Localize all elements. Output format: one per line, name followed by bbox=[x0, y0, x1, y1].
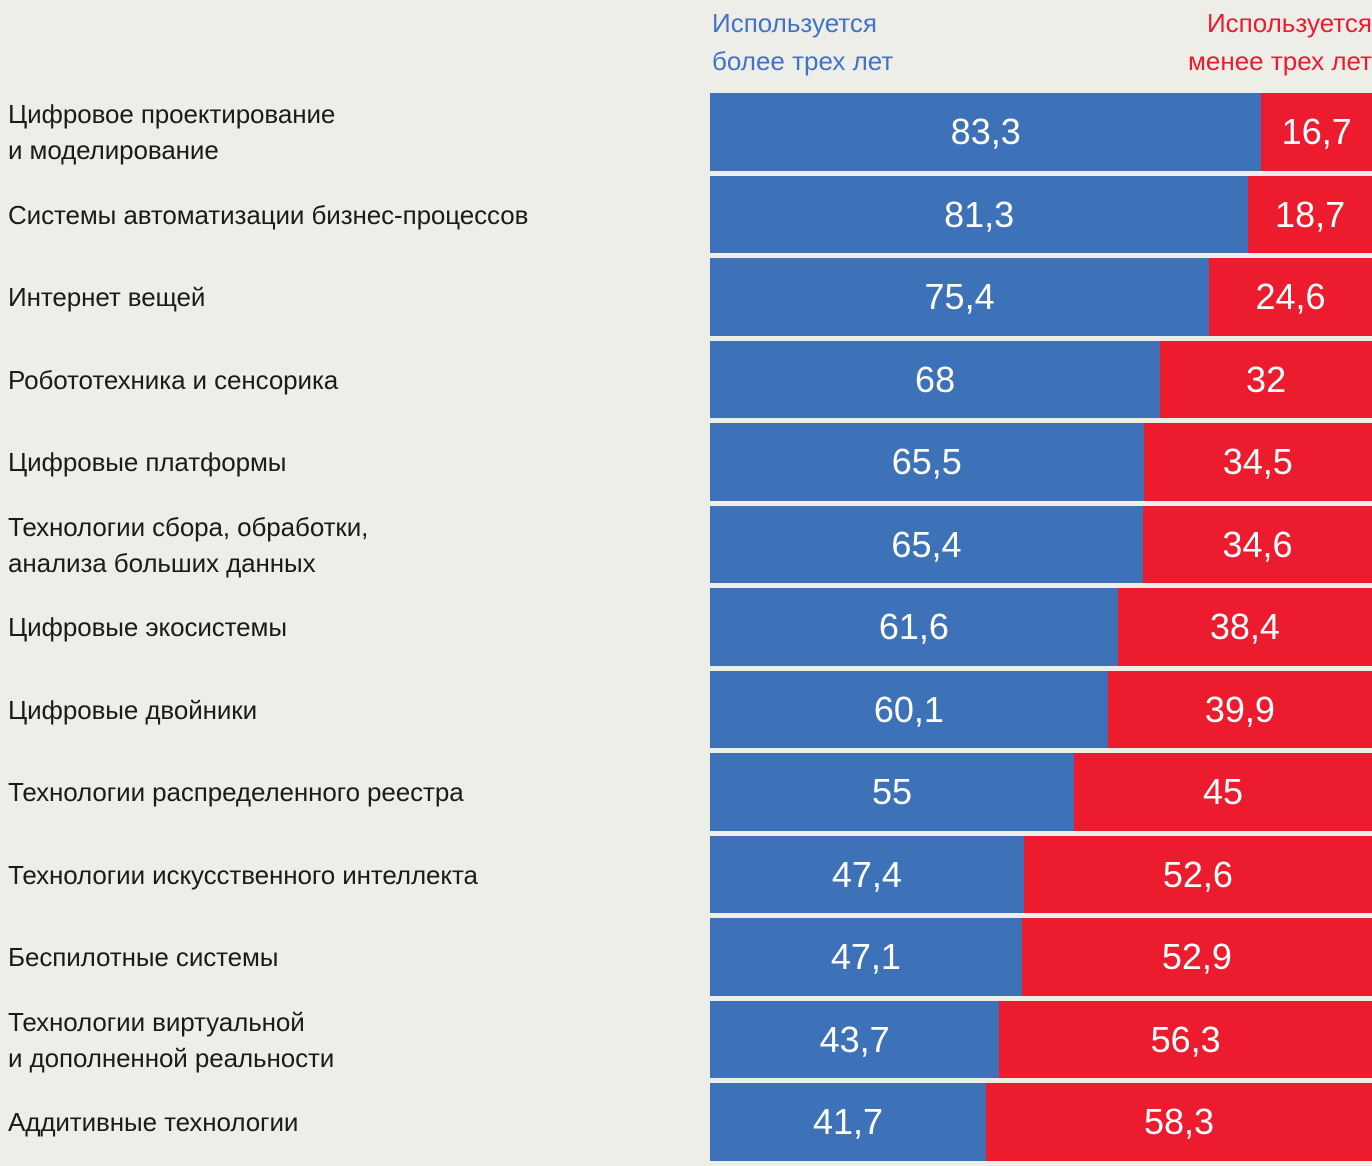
chart-row: Технологии сбора, обработки, анализа бол… bbox=[0, 506, 1372, 583]
bar-segment-more-than-three-years: 41,7 bbox=[710, 1083, 986, 1161]
row-category-label: Цифровое проектирование и моделирование bbox=[8, 93, 702, 171]
bar-segment-more-than-three-years: 65,5 bbox=[710, 423, 1144, 501]
bar-segment-more-than-three-years: 47,1 bbox=[710, 918, 1022, 996]
row-bar-track: 5545 bbox=[710, 753, 1372, 831]
row-category-label: Цифровые платформы bbox=[8, 423, 702, 501]
row-category-label: Аддитивные технологии bbox=[8, 1083, 702, 1161]
bar-segment-less-than-three-years: 52,6 bbox=[1024, 836, 1372, 913]
legend-item-more-than-three-years: Используется более трех лет bbox=[712, 4, 893, 80]
row-category-label: Беспилотные системы bbox=[8, 918, 702, 996]
bar-segment-more-than-three-years: 75,4 bbox=[710, 258, 1209, 336]
row-category-label: Системы автоматизации бизнес-процессов bbox=[8, 176, 702, 253]
bar-segment-less-than-three-years: 32 bbox=[1160, 341, 1372, 418]
row-bar-track: 75,424,6 bbox=[710, 258, 1372, 336]
row-category-label: Технологии сбора, обработки, анализа бол… bbox=[8, 506, 702, 583]
row-category-label: Интернет вещей bbox=[8, 258, 702, 336]
bar-segment-more-than-three-years: 55 bbox=[710, 753, 1074, 831]
bar-segment-less-than-three-years: 34,6 bbox=[1143, 506, 1372, 583]
row-category-label: Технологии искусственного интеллекта bbox=[8, 836, 702, 913]
row-category-label: Цифровые экосистемы bbox=[8, 588, 702, 666]
row-bar-track: 43,756,3 bbox=[710, 1001, 1372, 1078]
stacked-bar-chart: Используется более трех лет Используется… bbox=[0, 0, 1372, 1166]
chart-row: Системы автоматизации бизнес-процессов81… bbox=[0, 176, 1372, 253]
row-bar-track: 83,316,7 bbox=[710, 93, 1372, 171]
chart-row: Технологии распределенного реестра5545 bbox=[0, 753, 1372, 831]
row-bar-track: 65,434,6 bbox=[710, 506, 1372, 583]
row-bar-track: 60,139,9 bbox=[710, 671, 1372, 748]
bar-segment-more-than-three-years: 43,7 bbox=[710, 1001, 999, 1078]
row-category-label: Технологии виртуальной и дополненной реа… bbox=[8, 1001, 702, 1078]
row-bar-track: 65,534,5 bbox=[710, 423, 1372, 501]
bar-segment-less-than-three-years: 39,9 bbox=[1108, 671, 1372, 748]
bar-segment-more-than-three-years: 65,4 bbox=[710, 506, 1143, 583]
bar-segment-less-than-three-years: 18,7 bbox=[1248, 176, 1372, 253]
chart-row: Интернет вещей75,424,6 bbox=[0, 258, 1372, 336]
chart-row: Технологии искусственного интеллекта47,4… bbox=[0, 836, 1372, 913]
bar-segment-less-than-three-years: 38,4 bbox=[1118, 588, 1372, 666]
chart-row: Цифровые платформы65,534,5 bbox=[0, 423, 1372, 501]
bar-segment-more-than-three-years: 61,6 bbox=[710, 588, 1118, 666]
bar-segment-more-than-three-years: 68 bbox=[710, 341, 1160, 418]
row-category-label: Технологии распределенного реестра bbox=[8, 753, 702, 831]
bar-segment-less-than-three-years: 58,3 bbox=[986, 1083, 1372, 1161]
chart-row: Аддитивные технологии41,758,3 bbox=[0, 1083, 1372, 1161]
bar-segment-less-than-three-years: 34,5 bbox=[1144, 423, 1372, 501]
row-bar-track: 47,452,6 bbox=[710, 836, 1372, 913]
bar-segment-more-than-three-years: 60,1 bbox=[710, 671, 1108, 748]
legend-item-less-than-three-years: Используется менее трех лет bbox=[1188, 4, 1372, 80]
bar-segment-less-than-three-years: 52,9 bbox=[1022, 918, 1372, 996]
bar-segment-more-than-three-years: 83,3 bbox=[710, 93, 1261, 171]
chart-row: Робототехника и сенсорика6832 bbox=[0, 341, 1372, 418]
bar-segment-less-than-three-years: 24,6 bbox=[1209, 258, 1372, 336]
row-bar-track: 6832 bbox=[710, 341, 1372, 418]
row-category-label: Робототехника и сенсорика bbox=[8, 341, 702, 418]
chart-row: Беспилотные системы47,152,9 bbox=[0, 918, 1372, 996]
chart-rows: Цифровое проектирование и моделирование8… bbox=[0, 93, 1372, 1166]
chart-row: Технологии виртуальной и дополненной реа… bbox=[0, 1001, 1372, 1078]
chart-row: Цифровые экосистемы61,638,4 bbox=[0, 588, 1372, 666]
row-bar-track: 41,758,3 bbox=[710, 1083, 1372, 1161]
row-bar-track: 61,638,4 bbox=[710, 588, 1372, 666]
bar-segment-less-than-three-years: 56,3 bbox=[999, 1001, 1372, 1078]
bar-segment-less-than-three-years: 16,7 bbox=[1261, 93, 1372, 171]
row-bar-track: 81,318,7 bbox=[710, 176, 1372, 253]
chart-legend: Используется более трех лет Используется… bbox=[0, 0, 1372, 93]
chart-row: Цифровые двойники60,139,9 bbox=[0, 671, 1372, 748]
row-category-label: Цифровые двойники bbox=[8, 671, 702, 748]
bar-segment-less-than-three-years: 45 bbox=[1074, 753, 1372, 831]
bar-segment-more-than-three-years: 47,4 bbox=[710, 836, 1024, 913]
chart-row: Цифровое проектирование и моделирование8… bbox=[0, 93, 1372, 171]
row-bar-track: 47,152,9 bbox=[710, 918, 1372, 996]
bar-segment-more-than-three-years: 81,3 bbox=[710, 176, 1248, 253]
